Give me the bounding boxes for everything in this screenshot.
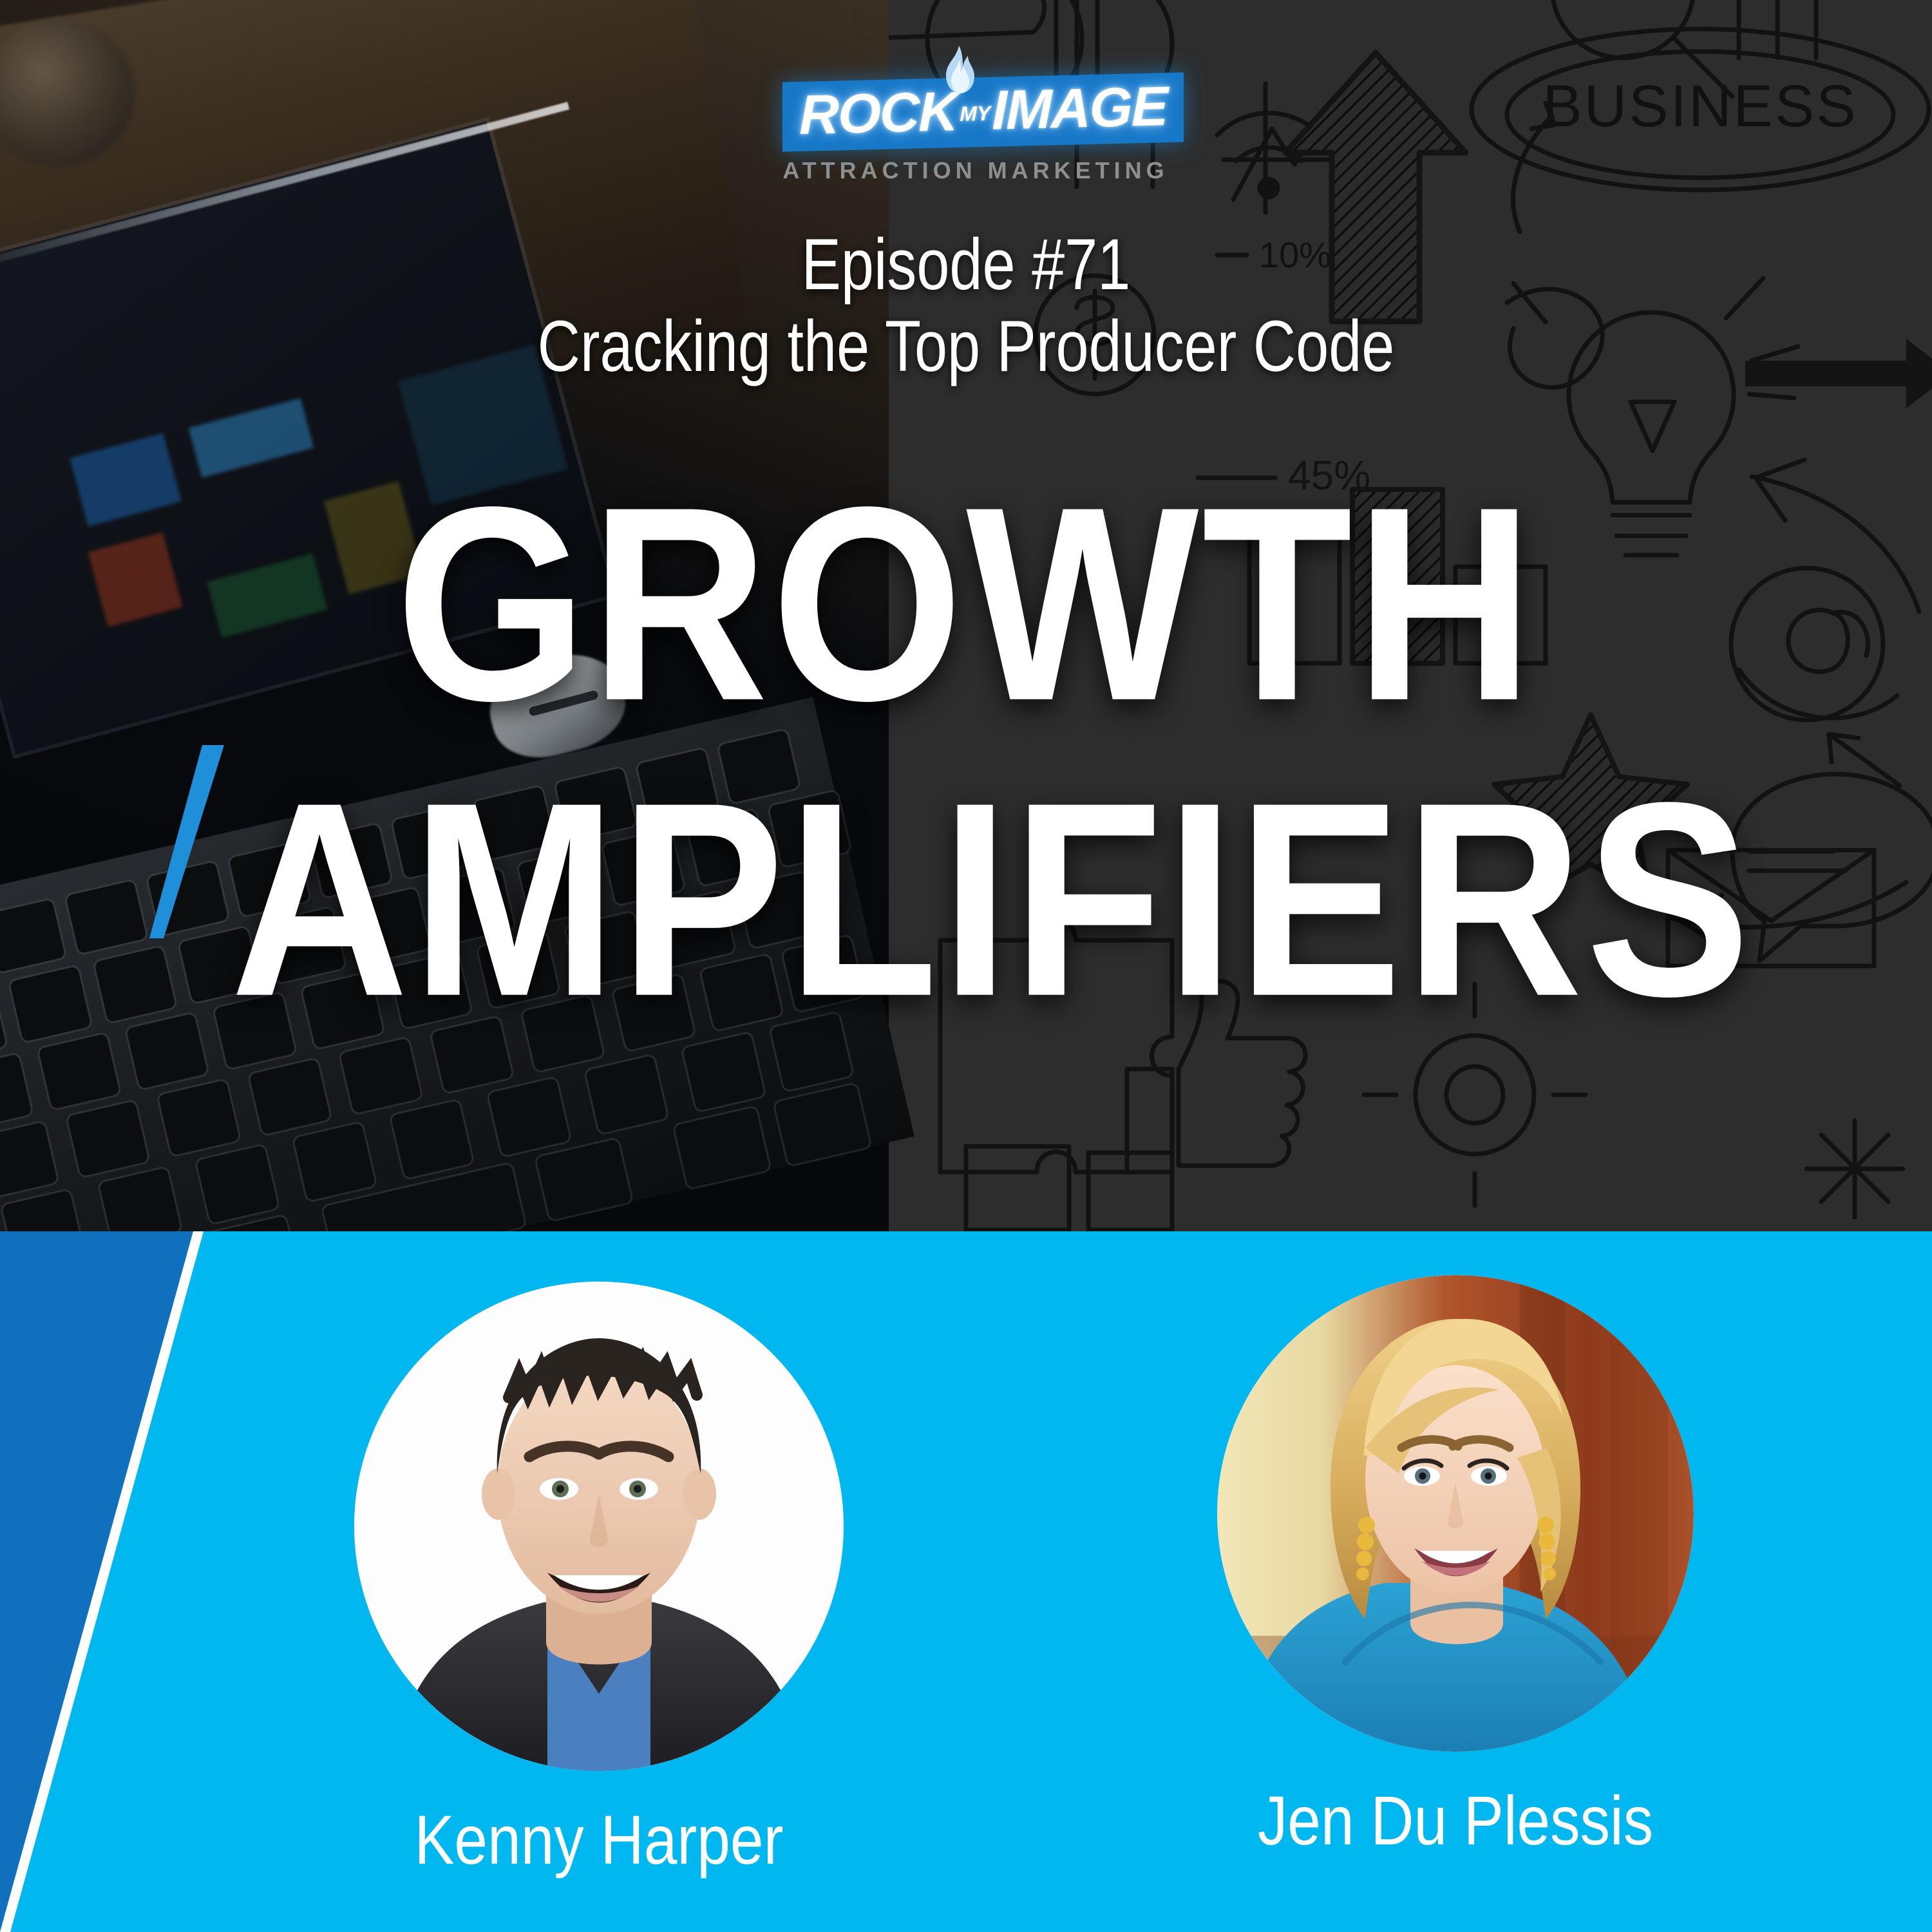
logo-word-rock: ROCK <box>799 80 957 146</box>
keyboard-key <box>0 986 6 1062</box>
keyboard-key <box>488 1077 571 1156</box>
keyboard-key <box>2 1190 84 1231</box>
flame-icon <box>934 44 982 112</box>
keyboard-key <box>249 1059 331 1135</box>
host-card-jen-du-plessis[interactable]: Jen Du Plessis <box>1159 1275 1752 1861</box>
keyboard-key <box>536 1139 632 1220</box>
logo-wordmark: ROCKMYIMAGE <box>799 79 1167 142</box>
host-name-kenny-harper: Kenny Harper <box>344 1799 853 1880</box>
keyboard-key <box>126 1013 208 1089</box>
keyboard-key <box>774 1084 870 1166</box>
svg-text:BUSINESS: BUSINESS <box>1542 73 1857 139</box>
keyboard-key <box>38 1034 120 1110</box>
logo-tagline: ATTRACTION MARKETING <box>782 157 1169 184</box>
host-card-kenny-harper[interactable]: Kenny Harper <box>303 1282 895 1880</box>
keyboard-key <box>294 1122 376 1201</box>
episode-heading-block: Episode #71 Cracking the Top Producer Co… <box>0 227 1932 386</box>
show-title-line-2-row: AMPLIFIERS <box>0 772 1932 968</box>
show-title-block: GROWTH AMPLIFIERS <box>0 477 1932 967</box>
episode-title: Cracking the Top Producer Code <box>174 307 1758 386</box>
keyboard-key <box>585 1056 668 1134</box>
rock-my-image-logo[interactable]: ROCKMYIMAGE ATTRACTION MARKETING <box>782 77 1169 200</box>
keyboard-key <box>67 1101 149 1177</box>
show-title-line-2: AMPLIFIERS <box>231 772 1754 1027</box>
logo-plate: ROCKMYIMAGE <box>782 72 1184 151</box>
logo-word-image: IMAGE <box>992 75 1167 142</box>
keyboard-key <box>0 1054 32 1130</box>
podcast-cover-art: 10% BUSINESS <box>0 0 1932 1932</box>
show-title-line-1: GROWTH <box>0 477 1932 731</box>
keyboard-key <box>674 1107 770 1189</box>
hosts-panel: Kenny Harper <box>0 1231 1932 1932</box>
avatar-kenny-harper <box>354 1282 844 1771</box>
host-name-jen-du-plessis: Jen Du Plessis <box>1200 1780 1710 1861</box>
episode-number: Episode #71 <box>174 227 1758 303</box>
accent-slash-icon <box>140 745 224 938</box>
keyboard-key <box>391 1100 473 1179</box>
keyboard-key <box>10 966 91 1042</box>
keyboard-key <box>99 1168 182 1231</box>
keyboard-key <box>158 1080 240 1156</box>
avatar-jen-du-plessis <box>1217 1275 1694 1752</box>
hero-dark-panel: 10% BUSINESS <box>0 0 1932 1231</box>
keyboard-key <box>0 1122 58 1198</box>
keyboard-key <box>196 1145 279 1224</box>
